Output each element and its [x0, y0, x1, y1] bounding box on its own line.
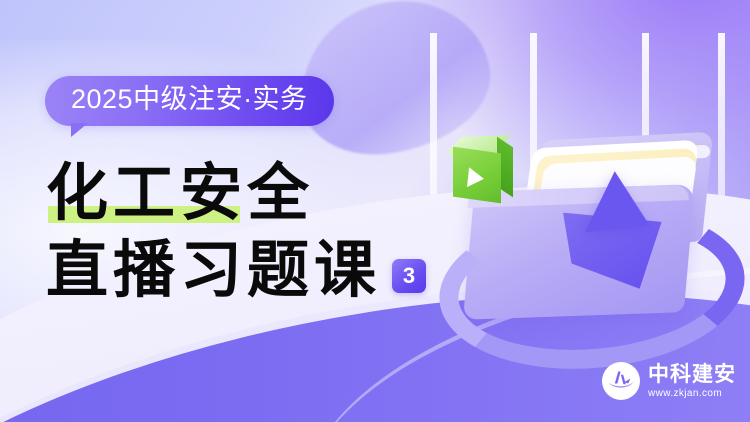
- headline-row-1: 化工安全: [46, 160, 426, 226]
- course-category-badge: 2025中级注安·实务: [45, 76, 334, 126]
- episode-number-badge: 3: [392, 259, 426, 293]
- green-play-cube-icon: [453, 136, 515, 202]
- title-line-2: 直播习题课: [46, 237, 381, 303]
- brand-website-url: www.zkjan.com: [648, 389, 736, 399]
- poster-headline: 化工安全 直播习题课 3: [46, 160, 426, 302]
- headline-row-2: 直播习题课 3: [46, 237, 426, 303]
- course-poster-banner: 2025中级注安·实务 化工安全 直播习题课 3 中科建安 www.zkjan.…: [0, 0, 750, 422]
- brand-logo-text: 中科建安 www.zkjan.com: [648, 364, 736, 399]
- title-line-1: 化工安全: [46, 160, 314, 226]
- brand-logo: 中科建安 www.zkjan.com: [602, 362, 736, 400]
- brand-name-cn: 中科建安: [648, 364, 736, 385]
- play-triangle-icon: [467, 167, 485, 189]
- course-category-label: 2025中级注安·实务: [45, 76, 334, 126]
- badge-speech-tail: [71, 123, 88, 137]
- folder-illustration: [415, 40, 735, 360]
- person-circle-logo-icon: [602, 362, 640, 400]
